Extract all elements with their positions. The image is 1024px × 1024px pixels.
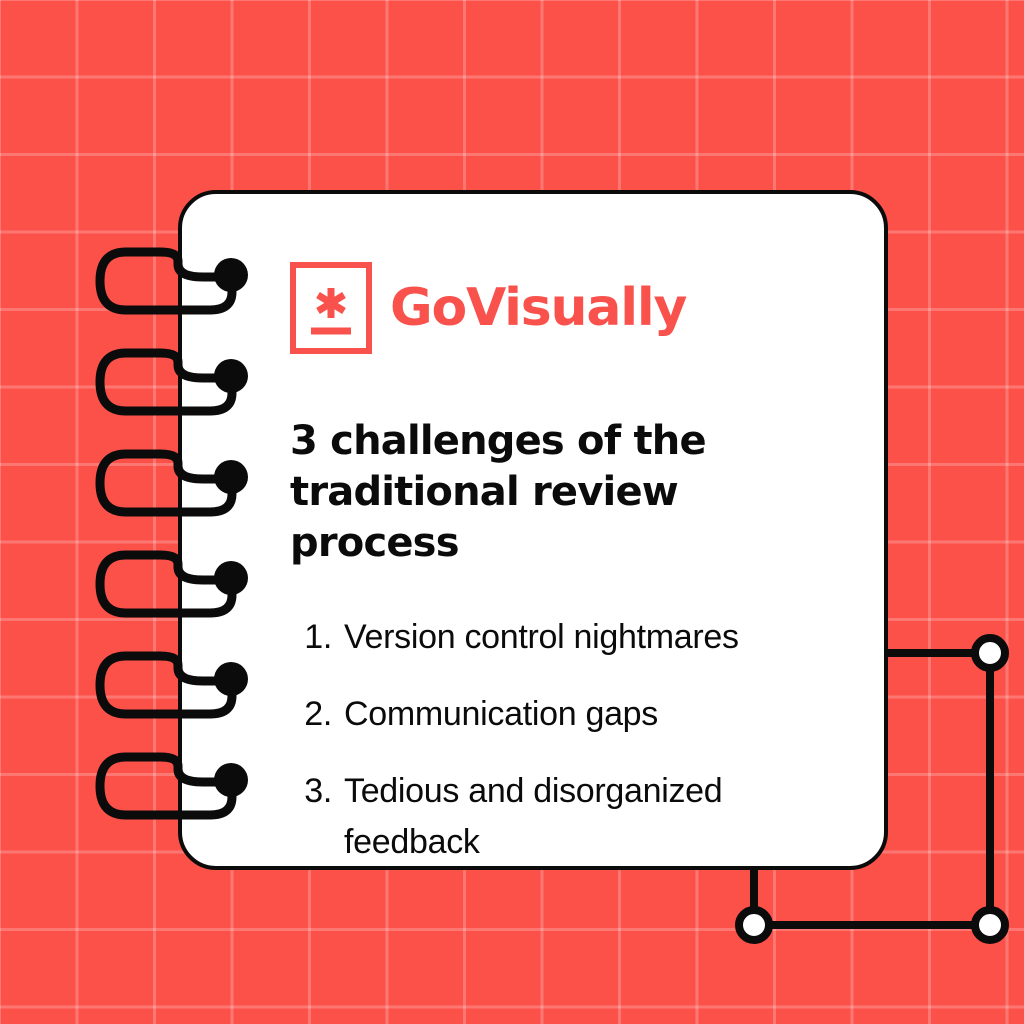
connector-node-top-right — [975, 638, 1005, 668]
list-item-text: Communication gaps — [344, 689, 822, 740]
list-item-text: Tedious and disorganized feedback — [344, 766, 822, 868]
poster-canvas: GoVisually 3 challenges of the tradition… — [0, 0, 1024, 1024]
list-item-text: Version control nightmares — [344, 612, 822, 663]
note-card: GoVisually 3 challenges of the tradition… — [178, 190, 888, 870]
list-item-number: 1. — [290, 612, 344, 663]
list-item: 2. Communication gaps — [290, 689, 834, 740]
brand-logo[interactable]: GoVisually — [290, 262, 834, 354]
connector-node-bottom-left — [739, 910, 769, 940]
list-item: 3. Tedious and disorganized feedback — [290, 766, 834, 868]
list-item: 1. Version control nightmares — [290, 612, 834, 663]
brand-wordmark: GoVisually — [390, 282, 686, 334]
list-item-number: 2. — [290, 689, 344, 740]
page-title: 3 challenges of the traditional review p… — [290, 416, 834, 570]
challenge-list: 1. Version control nightmares 2. Communi… — [290, 612, 834, 868]
connector-node-bottom-right — [975, 910, 1005, 940]
asterisk-document-icon — [290, 262, 372, 354]
card-content: GoVisually 3 challenges of the tradition… — [290, 262, 834, 868]
list-item-number: 3. — [290, 766, 344, 817]
